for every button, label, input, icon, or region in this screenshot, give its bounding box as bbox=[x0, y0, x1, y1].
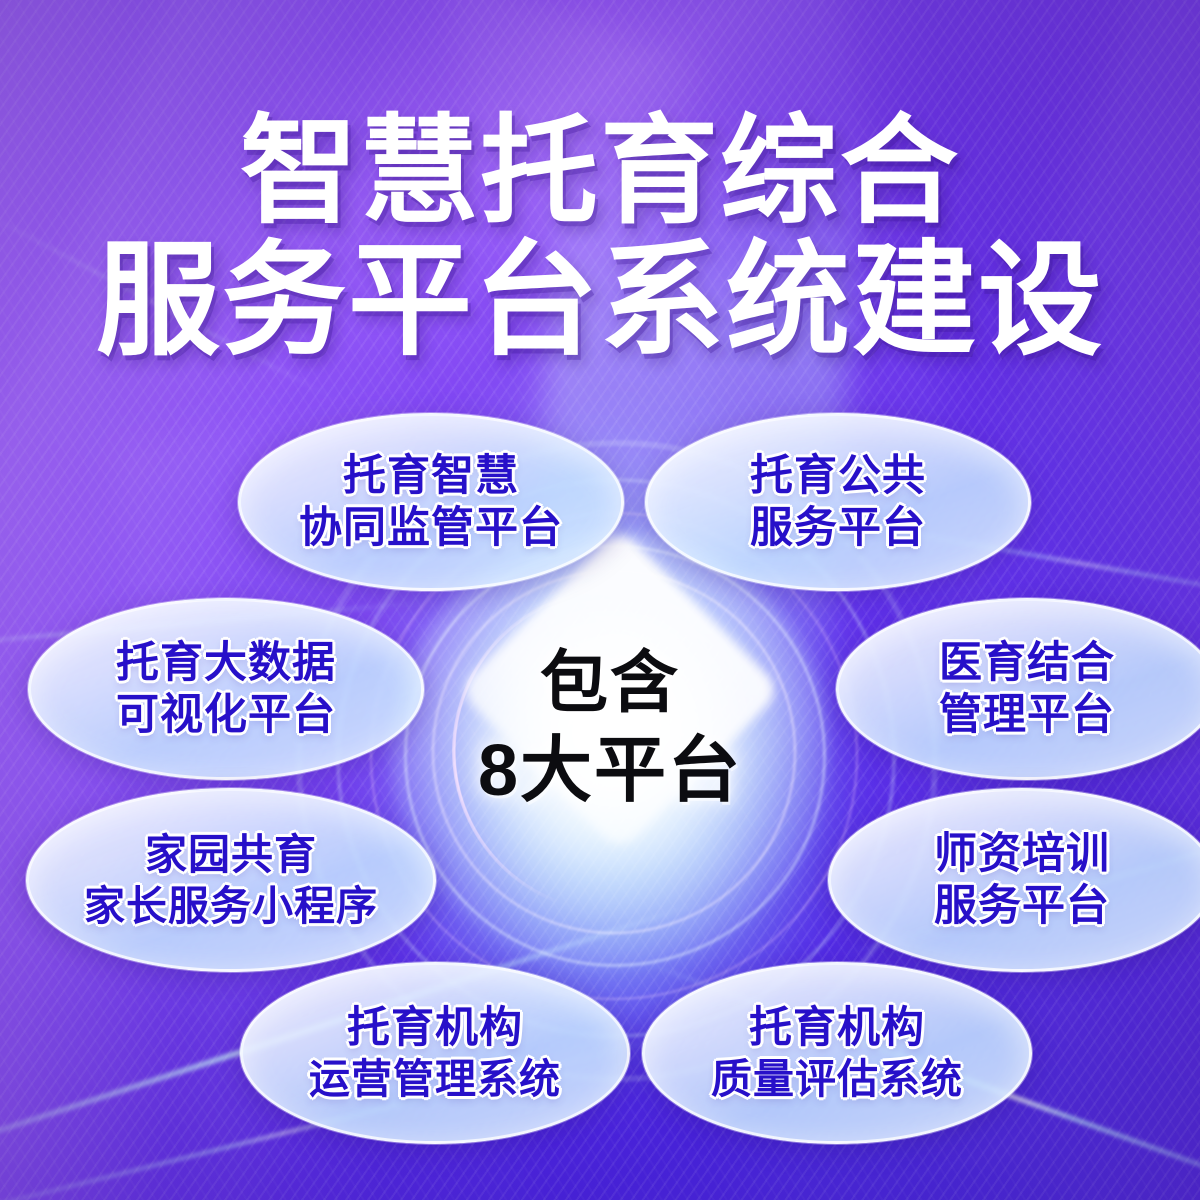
center-label-line-1: 包含 bbox=[430, 645, 790, 721]
bubble-line-2: 协同监管平台 bbox=[299, 502, 563, 554]
platform-bubble-quality-assessment-system[interactable]: 托育机构 质量评估系统 bbox=[642, 962, 1032, 1144]
bubble-line-1: 医育结合 bbox=[939, 637, 1115, 689]
bubble-line-2: 可视化平台 bbox=[116, 689, 336, 741]
bubble-line-2: 质量评估系统 bbox=[711, 1054, 963, 1104]
bubble-line-2: 家长服务小程序 bbox=[84, 881, 378, 931]
poster-title: 智慧托育综合 服务平台系统建设 bbox=[0, 112, 1200, 365]
title-line-2: 服务平台系统建设 bbox=[0, 238, 1200, 364]
bubble-line-1: 家园共育 bbox=[145, 829, 317, 880]
bubble-line-1: 师资培训 bbox=[934, 828, 1110, 880]
center-summary-label: 包含 8大平台 bbox=[430, 645, 790, 812]
bubble-line-2: 管理平台 bbox=[939, 689, 1115, 741]
platform-bubble-teacher-training-service[interactable]: 师资培训 服务平台 bbox=[828, 788, 1200, 972]
platform-bubble-public-service[interactable]: 托育公共 服务平台 bbox=[645, 413, 1031, 591]
platform-bubble-medical-education-management[interactable]: 医育结合 管理平台 bbox=[836, 598, 1200, 780]
poster-canvas: 智慧托育综合 服务平台系统建设 包含 8大平台 托育智慧 协同监管平台 托育公共… bbox=[0, 0, 1200, 1200]
bubble-line-1: 托育智慧 bbox=[343, 450, 519, 502]
platform-bubble-collaborative-supervision[interactable]: 托育智慧 协同监管平台 bbox=[238, 413, 624, 591]
platform-bubble-big-data-visualization[interactable]: 托育大数据 可视化平台 bbox=[28, 598, 424, 780]
center-label-line-2: 8大平台 bbox=[430, 731, 790, 812]
platform-bubble-parent-service-miniprogram[interactable]: 家园共育 家长服务小程序 bbox=[26, 788, 436, 972]
title-line-1: 智慧托育综合 bbox=[0, 112, 1200, 232]
bubble-line-1: 托育机构 bbox=[347, 1002, 523, 1054]
bubble-line-1: 托育公共 bbox=[750, 450, 926, 502]
platform-bubble-operations-management-system[interactable]: 托育机构 运营管理系统 bbox=[240, 962, 630, 1144]
bubble-line-1: 托育机构 bbox=[749, 1002, 925, 1054]
bubble-line-2: 运营管理系统 bbox=[309, 1054, 561, 1104]
bubble-line-2: 服务平台 bbox=[750, 502, 926, 554]
bubble-line-1: 托育大数据 bbox=[116, 637, 336, 689]
bubble-line-2: 服务平台 bbox=[934, 880, 1110, 932]
